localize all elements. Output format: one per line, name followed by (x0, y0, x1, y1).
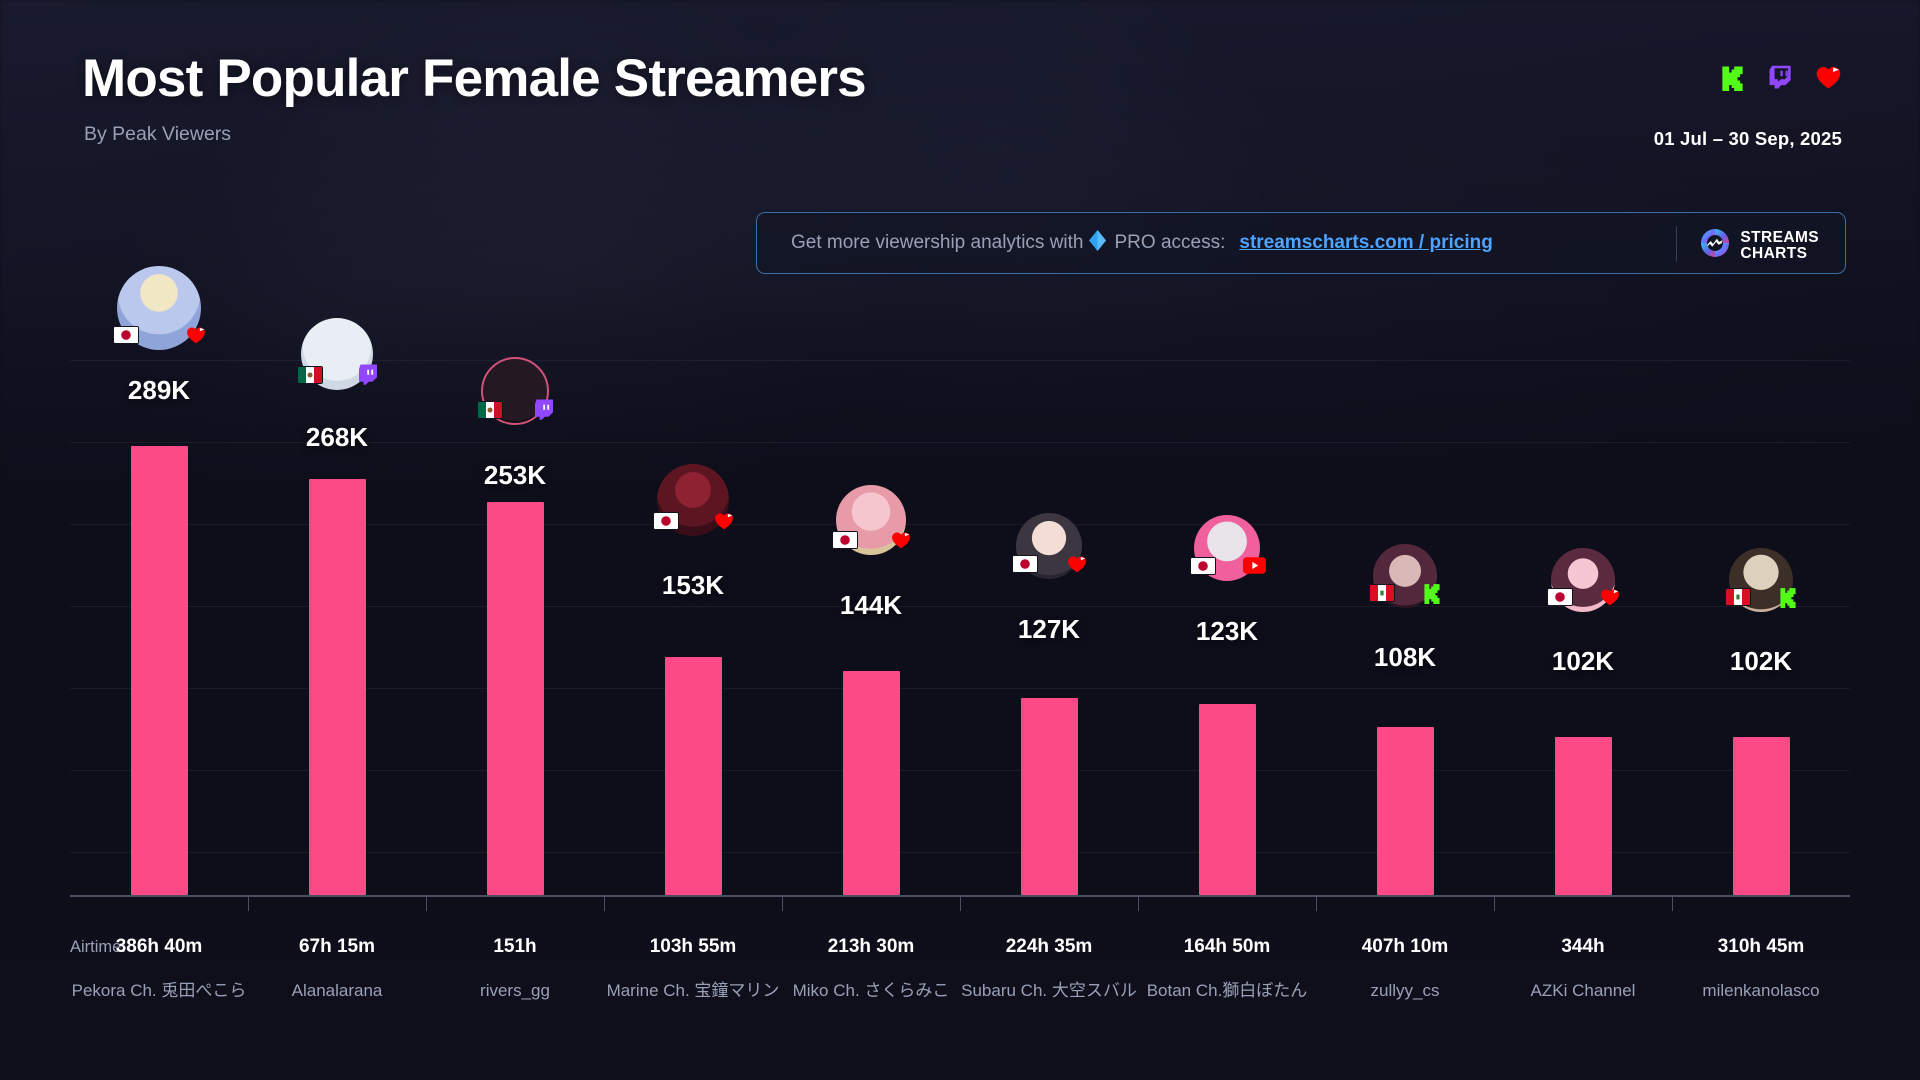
bar[interactable] (487, 502, 544, 895)
streamer-avatar[interactable] (1194, 515, 1260, 581)
bar-value-label: 123K (1157, 616, 1297, 647)
airtime-value: 224h 35m (960, 936, 1138, 958)
streamer-avatar[interactable] (1551, 548, 1615, 612)
channel-name[interactable]: rivers_gg (426, 978, 604, 1003)
bar-value-label: 102K (1691, 646, 1831, 677)
country-flag-pe-icon (1725, 588, 1751, 606)
bar-value-label: 144K (801, 590, 941, 621)
bar-value-label: 127K (979, 614, 1119, 645)
bar-chart: 289K268K253K153K144K127K123K108K102K102K… (0, 0, 1920, 1080)
channel-name[interactable]: Subaru Ch. 大空スバル (960, 978, 1138, 1003)
country-flag-mx-icon (297, 366, 323, 384)
platform-youtube-icon (1243, 554, 1266, 577)
axis-tick (1138, 897, 1139, 911)
channel-name[interactable]: Pekora Ch. 兎田ぺこら (70, 978, 248, 1003)
bar-value-label: 253K (445, 460, 585, 491)
streamer-avatar[interactable] (301, 318, 373, 390)
channel-name[interactable]: milenkanolasco (1672, 978, 1850, 1003)
channel-name[interactable]: Alanalarana (248, 978, 426, 1003)
bar[interactable] (1733, 737, 1790, 895)
platform-youtube-icon (184, 323, 207, 346)
bar[interactable] (1199, 704, 1256, 895)
platform-kick-icon (1776, 585, 1799, 608)
country-flag-jp-icon (1547, 588, 1573, 606)
airtime-value: 151h (426, 936, 604, 958)
country-flag-mx-icon (477, 401, 503, 419)
bar[interactable] (309, 479, 366, 895)
country-flag-jp-icon (832, 531, 858, 549)
airtime-value: 310h 45m (1672, 936, 1850, 958)
channel-name[interactable]: Marine Ch. 宝鐘マリン (604, 978, 782, 1003)
axis-tick (1494, 897, 1495, 911)
airtime-value: 407h 10m (1316, 936, 1494, 958)
bar-value-label: 289K (89, 375, 229, 406)
country-flag-jp-icon (113, 326, 139, 344)
country-flag-pe-icon (1369, 584, 1395, 602)
airtime-value: 164h 50m (1138, 936, 1316, 958)
axis-tick (1672, 897, 1673, 911)
bar-value-label: 108K (1335, 642, 1475, 673)
airtime-value: 213h 30m (782, 936, 960, 958)
bar[interactable] (131, 446, 188, 895)
bar[interactable] (843, 671, 900, 895)
platform-kick-icon (1420, 581, 1443, 604)
country-flag-jp-icon (1190, 557, 1216, 575)
axis-tick (248, 897, 249, 911)
axis-tick (604, 897, 605, 911)
bar[interactable] (1377, 727, 1434, 895)
channel-name[interactable]: zullyy_cs (1316, 978, 1494, 1003)
platform-youtube-icon (712, 509, 735, 532)
country-flag-jp-icon (1012, 555, 1038, 573)
bar-value-label: 102K (1513, 646, 1653, 677)
airtime-value: 386h 40m (70, 936, 248, 958)
streamer-avatar[interactable] (1373, 544, 1437, 608)
airtime-value: 67h 15m (248, 936, 426, 958)
bar[interactable] (1555, 737, 1612, 895)
streamer-avatar[interactable] (836, 485, 906, 555)
platform-youtube-icon (1065, 552, 1088, 575)
axis-tick (426, 897, 427, 911)
country-flag-jp-icon (653, 512, 679, 530)
platform-twitch-icon (532, 398, 555, 421)
platform-twitch-icon (356, 363, 379, 386)
streamer-avatar[interactable] (117, 266, 201, 350)
platform-youtube-icon (1598, 585, 1621, 608)
channel-name[interactable]: AZKi Channel (1494, 978, 1672, 1003)
streamer-avatar[interactable] (1729, 548, 1793, 612)
airtime-value: 103h 55m (604, 936, 782, 958)
bar[interactable] (665, 657, 722, 895)
streamer-avatar[interactable] (657, 464, 729, 536)
bar-value-label: 153K (623, 570, 763, 601)
streamer-avatar[interactable] (481, 357, 549, 425)
axis-tick (1316, 897, 1317, 911)
axis-tick (782, 897, 783, 911)
bar[interactable] (1021, 698, 1078, 895)
channel-name[interactable]: Botan Ch.獅白ぼたん (1138, 978, 1316, 1003)
channel-name[interactable]: Miko Ch. さくらみこ (782, 978, 960, 1003)
platform-youtube-icon (889, 528, 912, 551)
airtime-value: 344h (1494, 936, 1672, 958)
bar-value-label: 268K (267, 422, 407, 453)
axis-tick (960, 897, 961, 911)
streamer-avatar[interactable] (1016, 513, 1082, 579)
